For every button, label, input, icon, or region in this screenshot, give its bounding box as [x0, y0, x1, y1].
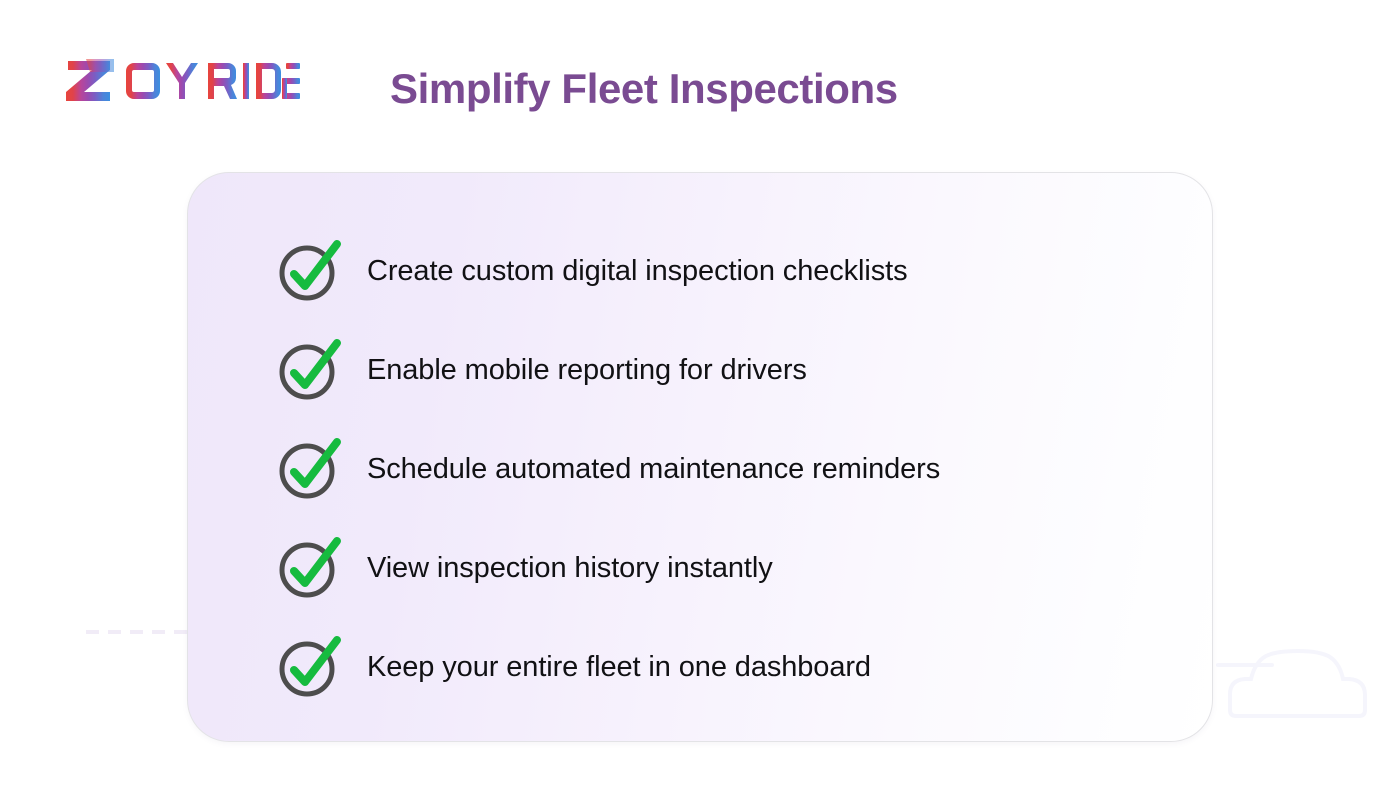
list-item: Keep your entire fleet in one dashboard [277, 617, 1172, 716]
feature-list: Create custom digital inspection checkli… [277, 221, 1172, 716]
car-outline-decoration [1214, 632, 1382, 728]
feature-card: Create custom digital inspection checkli… [187, 172, 1213, 742]
zoyride-logo [62, 58, 300, 104]
check-circle-icon [277, 239, 341, 303]
check-circle-icon [277, 338, 341, 402]
check-circle-icon [277, 437, 341, 501]
list-item: View inspection history instantly [277, 518, 1172, 617]
page-title: Simplify Fleet Inspections [390, 58, 898, 120]
check-circle-icon [277, 635, 341, 699]
feature-label: Keep your entire fleet in one dashboard [367, 649, 871, 685]
dashed-line-decoration [86, 630, 188, 634]
list-item: Schedule automated maintenance reminders [277, 419, 1172, 518]
check-circle-icon [277, 536, 341, 600]
feature-label: View inspection history instantly [367, 550, 773, 586]
slide-canvas: Simplify Fleet Inspections Create custom… [0, 0, 1400, 800]
slide-header: Simplify Fleet Inspections [0, 0, 1400, 160]
list-item: Enable mobile reporting for drivers [277, 320, 1172, 419]
feature-label: Enable mobile reporting for drivers [367, 352, 807, 388]
feature-label: Create custom digital inspection checkli… [367, 253, 908, 289]
list-item: Create custom digital inspection checkli… [277, 221, 1172, 320]
feature-label: Schedule automated maintenance reminders [367, 451, 940, 487]
